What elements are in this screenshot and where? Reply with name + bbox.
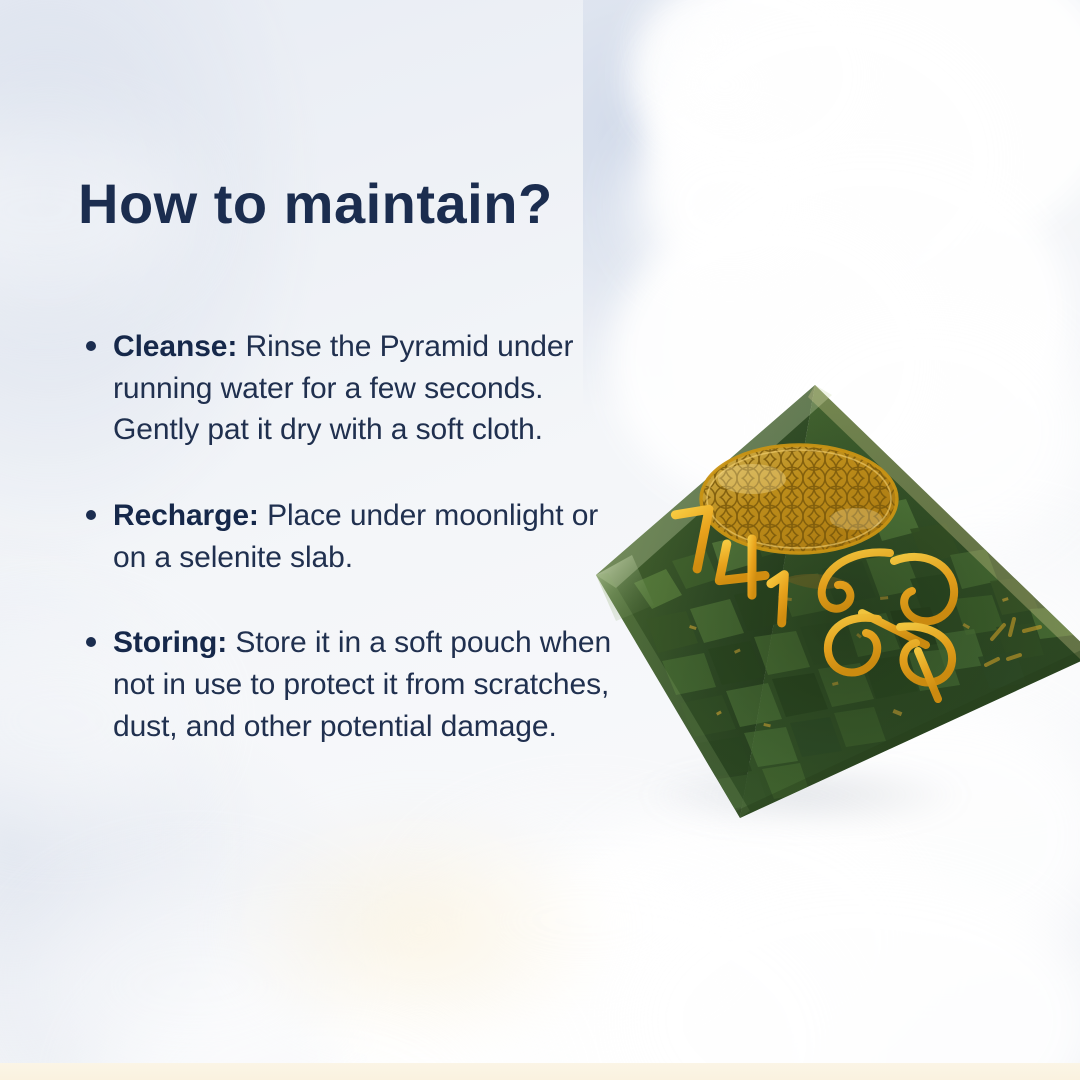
cloud-shape <box>630 120 830 290</box>
list-item-lead: Storing: <box>113 626 227 659</box>
warm-haze-glow <box>210 800 630 1060</box>
bullet-dot-icon <box>86 637 96 647</box>
list-item: Recharge: Place under moonlight or on a … <box>78 495 618 578</box>
list-item-lead: Recharge: <box>113 499 259 532</box>
cloud-shape <box>660 10 750 75</box>
list-item: Storing: Store it in a soft pouch when n… <box>78 622 618 747</box>
content-column: How to maintain? Cleanse: Rinse the Pyra… <box>78 176 618 748</box>
list-item: Cleanse: Rinse the Pyramid under running… <box>78 326 618 451</box>
page-title: How to maintain? <box>78 176 618 232</box>
product-image-pyramid <box>594 383 1080 823</box>
slide-canvas: How to maintain? Cleanse: Rinse the Pyra… <box>0 0 1080 1080</box>
bottom-accent-strip <box>0 1063 1080 1080</box>
maintenance-list: Cleanse: Rinse the Pyramid under running… <box>78 326 618 748</box>
bullet-dot-icon <box>86 341 96 351</box>
bullet-dot-icon <box>86 510 96 520</box>
list-item-lead: Cleanse: <box>113 330 237 363</box>
